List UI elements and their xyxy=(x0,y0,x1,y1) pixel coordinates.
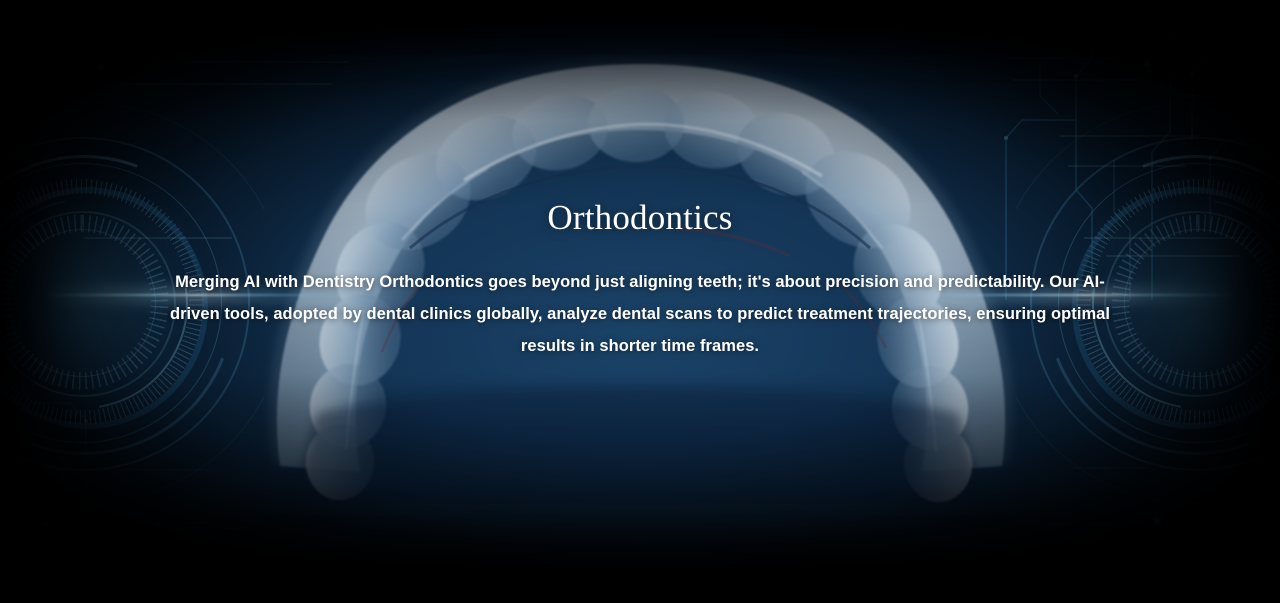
page-body-text: Merging AI with Dentistry Orthodontics g… xyxy=(157,266,1123,362)
light-spark-bottom-right xyxy=(1152,516,1162,526)
hero-content: Orthodontics Merging AI with Dentistry O… xyxy=(0,196,1280,362)
light-spark-bottom-left xyxy=(40,520,50,530)
light-spark-top-right xyxy=(1142,58,1152,68)
page-title: Orthodontics xyxy=(0,196,1280,240)
light-spark-top-left xyxy=(96,62,106,72)
orthodontics-hero-banner: Orthodontics Merging AI with Dentistry O… xyxy=(0,0,1280,603)
